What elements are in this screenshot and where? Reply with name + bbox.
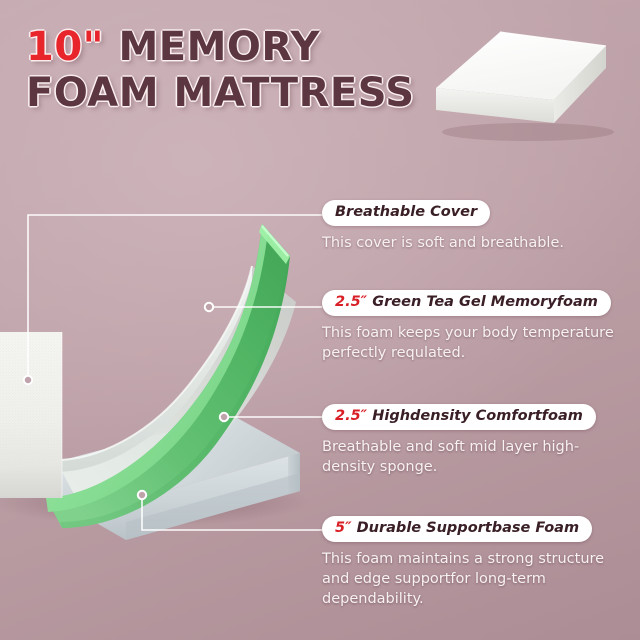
mattress-thumbnail-icon xyxy=(428,26,624,144)
title-accent-measure: 10" xyxy=(26,24,104,70)
diagram-layer-cover xyxy=(0,332,62,498)
mattress-infographic: 10" MEMORY FOAM MATTRESS xyxy=(0,0,640,640)
callout-gel-body: This foam keeps your body temperature pe… xyxy=(322,323,622,363)
callout-comfort: 2.5″ Highdensity Comfortfoam Breathable … xyxy=(322,404,634,477)
callout-base-body: This foam maintains a strong structure a… xyxy=(322,549,622,609)
title-line-1: 10" MEMORY xyxy=(26,24,446,70)
callout-cover-body: This cover is soft and breathable. xyxy=(322,233,622,253)
callout-gel-label: Green Tea Gel Memoryfoam xyxy=(372,294,598,310)
callout-comfort-label: Highdensity Comfortfoam xyxy=(372,408,583,424)
callout-cover-label: Breathable Cover xyxy=(335,204,477,220)
callout-comfort-pill: 2.5″ Highdensity Comfortfoam xyxy=(322,404,596,430)
title-line-1-rest: MEMORY xyxy=(104,24,320,70)
callout-gel-pill: 2.5″ Green Tea Gel Memoryfoam xyxy=(322,290,611,316)
callout-gel: 2.5″ Green Tea Gel Memoryfoam This foam … xyxy=(322,290,634,363)
callout-cover: Breathable Cover This cover is soft and … xyxy=(322,200,634,253)
callout-comfort-body: Breathable and soft mid layer high-densi… xyxy=(322,437,622,477)
product-thumbnail xyxy=(428,26,624,144)
mattress-cutaway-svg xyxy=(0,210,330,540)
callout-gel-measure: 2.5″ xyxy=(335,294,367,310)
callout-base: 5″ Durable Supportbase Foam This foam ma… xyxy=(322,516,634,609)
mattress-layer-diagram xyxy=(0,210,330,540)
callout-comfort-measure: 2.5″ xyxy=(335,408,367,424)
callout-base-label: Durable Supportbase Foam xyxy=(357,520,579,536)
page-title: 10" MEMORY FOAM MATTRESS xyxy=(26,24,446,116)
callout-base-measure: 5″ xyxy=(335,520,352,536)
title-line-2: FOAM MATTRESS xyxy=(26,70,446,116)
callout-base-pill: 5″ Durable Supportbase Foam xyxy=(322,516,592,542)
callout-cover-pill: Breathable Cover xyxy=(322,200,490,226)
